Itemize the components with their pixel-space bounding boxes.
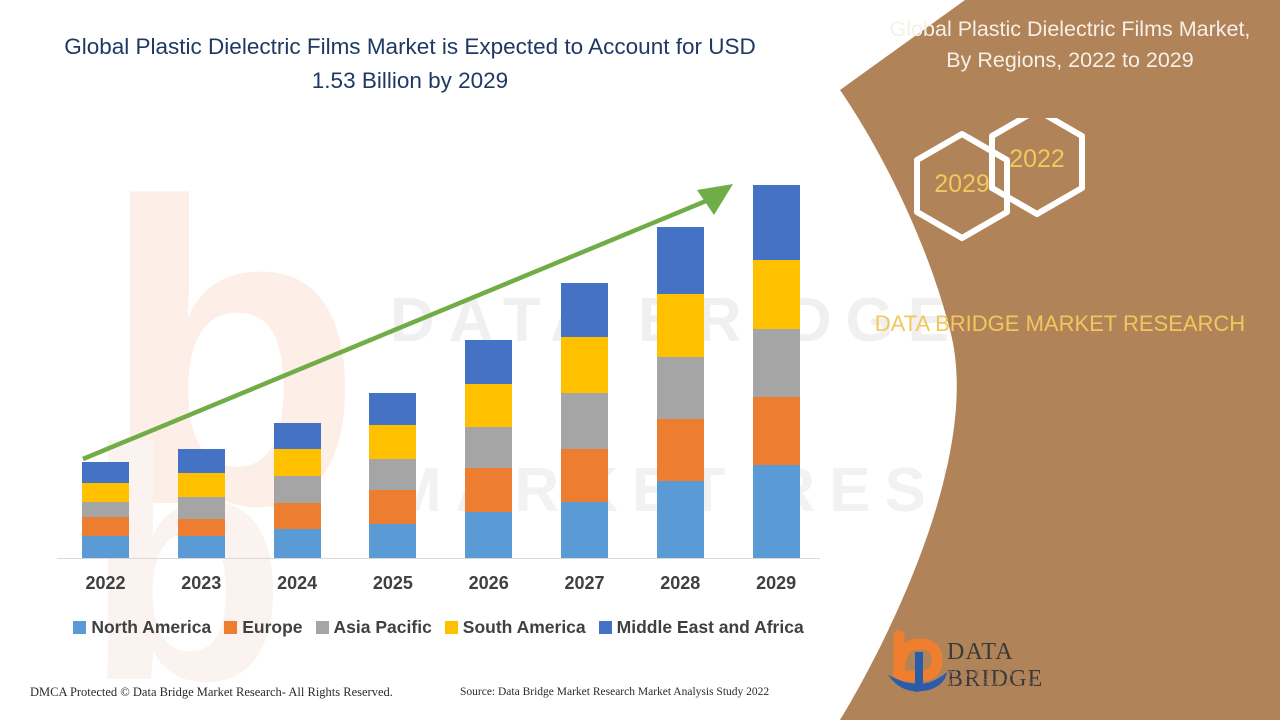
legend-label: Middle East and Africa	[617, 617, 804, 638]
legend-swatch	[224, 621, 237, 634]
copyright-notice: DMCA Protected © Data Bridge Market Rese…	[30, 685, 393, 700]
legend-label: Asia Pacific	[334, 617, 432, 638]
legend-swatch	[599, 621, 612, 634]
infographic-slide: b DATA BRIDGE MARKET RESEARCH b Global P…	[0, 0, 1280, 720]
legend-label: Europe	[242, 617, 302, 638]
panel-title: Global Plastic Dielectric Films Market, …	[880, 14, 1260, 76]
hexagon-2029-label: 2029	[917, 170, 1007, 199]
hexagon-badges: 2029 2022	[840, 118, 1280, 288]
legend-item-north-america[interactable]: North America	[73, 617, 211, 638]
legend-item-south-america[interactable]: South America	[445, 617, 586, 638]
panel-shape	[840, 0, 1280, 720]
brand-name: DATA BRIDGE MARKET RESEARCH	[870, 308, 1250, 340]
hexagon-icons	[840, 118, 1280, 288]
stacked-bar-chart: 20222023202420252026202720282029 North A…	[0, 0, 860, 720]
brand-panel: Global Plastic Dielectric Films Market, …	[840, 0, 1280, 720]
hexagon-2022-label: 2022	[992, 145, 1082, 174]
legend-item-middle-east-and-africa[interactable]: Middle East and Africa	[599, 617, 804, 638]
legend-label: South America	[463, 617, 586, 638]
legend-item-europe[interactable]: Europe	[224, 617, 302, 638]
chart-legend: North AmericaEuropeAsia PacificSouth Ame…	[57, 617, 820, 638]
legend-swatch	[445, 621, 458, 634]
trend-arrow-icon	[0, 0, 860, 720]
legend-swatch	[73, 621, 86, 634]
logo-subtitle: MARKET RESEARCH	[949, 668, 1105, 688]
source-note: Source: Data Bridge Market Research Mark…	[460, 686, 769, 698]
legend-item-asia-pacific[interactable]: Asia Pacific	[316, 617, 432, 638]
legend-label: North America	[91, 617, 211, 638]
company-logo: DATA BRIDGE MARKET RESEARCH	[885, 630, 1105, 706]
legend-swatch	[316, 621, 329, 634]
